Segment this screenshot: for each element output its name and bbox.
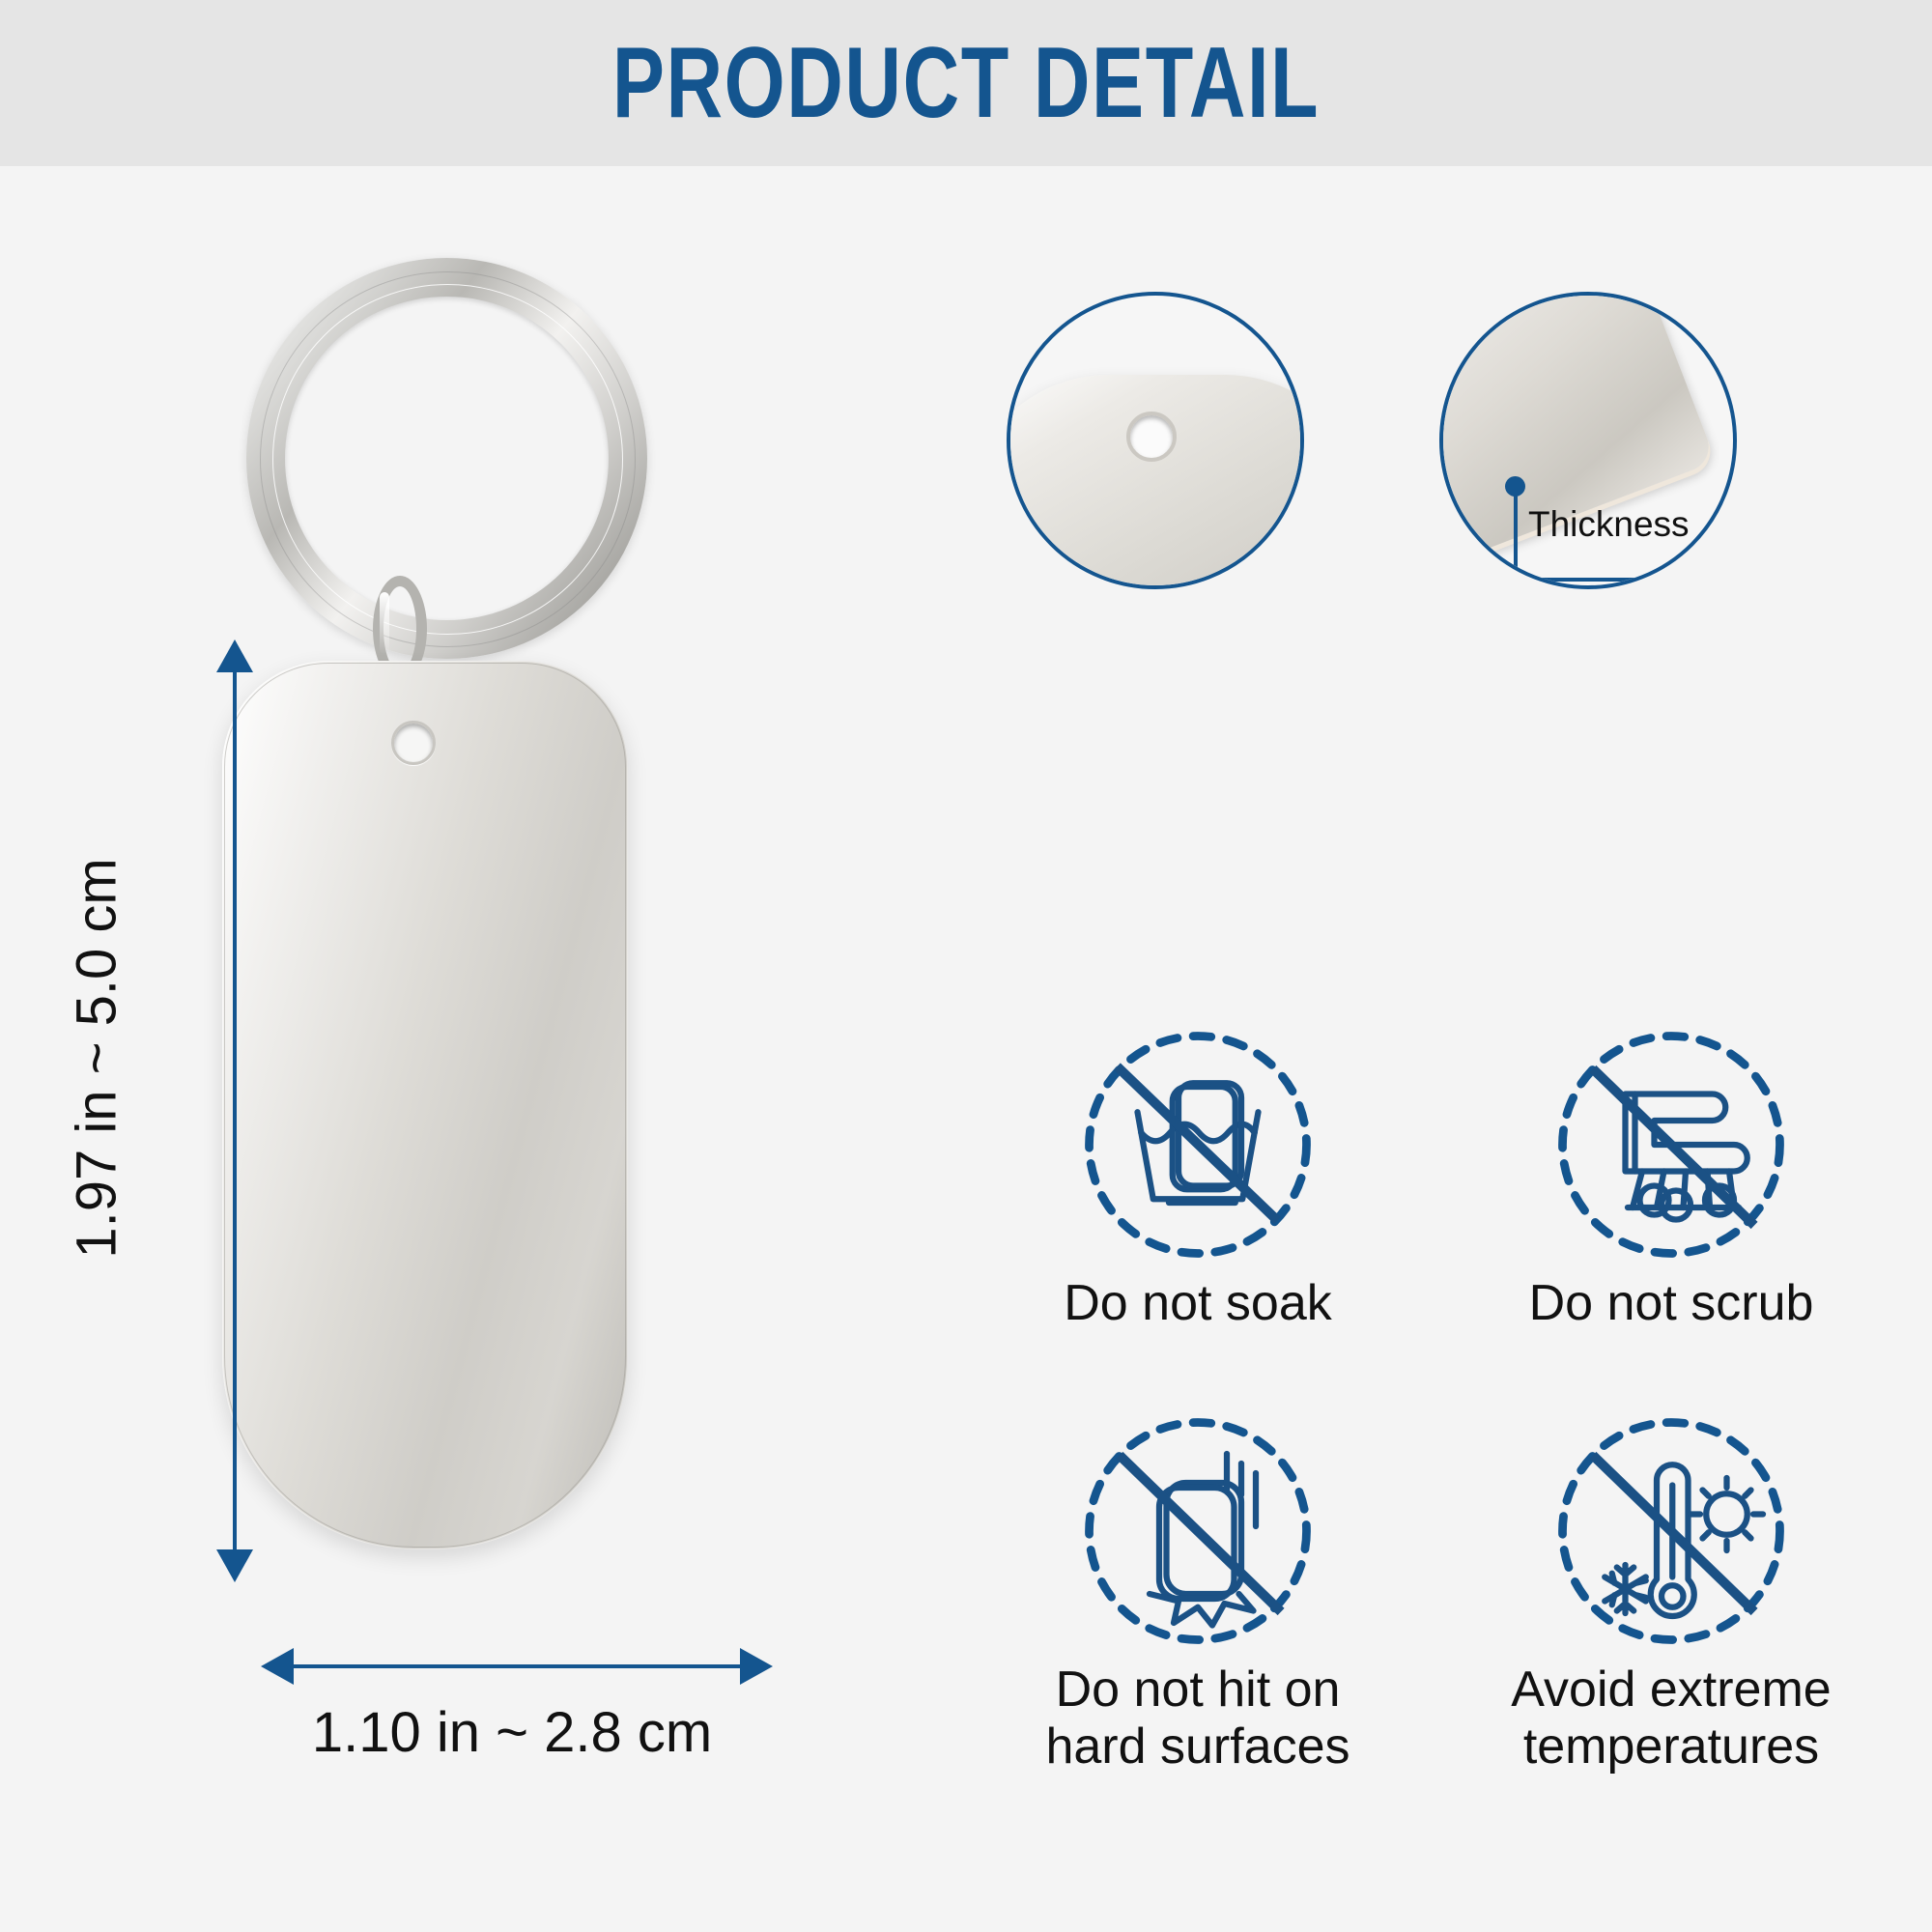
split-keyring <box>246 258 647 659</box>
hole-detail-hole <box>1126 412 1177 462</box>
width-dimension-line <box>280 1664 744 1668</box>
header-band: PRODUCT DETAIL <box>0 0 1932 166</box>
width-dimension-label: 1.10 in ~ 2.8 cm <box>145 1700 879 1765</box>
product-image-panel: 1.97 in ~ 5.0 cm 1.10 in ~ 2.8 cm <box>0 166 966 1932</box>
thickness-leader-line <box>1514 487 1518 582</box>
care-label-no-impact: Do not hit on hard surfaces <box>1005 1662 1391 1776</box>
no-temperature-icon <box>1550 1410 1792 1652</box>
no-scrub-icon <box>1550 1024 1792 1265</box>
height-dimension-label: 1.97 in ~ 5.0 cm <box>65 808 129 1310</box>
care-item-no-temperature: Avoid extreme temperatures <box>1478 1410 1864 1776</box>
thickness-value: 0.08 in ~ 0.2 cm <box>1439 585 1737 589</box>
care-label-no-temperature: Avoid extreme temperatures <box>1478 1662 1864 1776</box>
page-title: PRODUCT DETAIL <box>213 0 1719 166</box>
hole-detail-tag-crop <box>1007 375 1304 589</box>
dog-tag-body <box>222 661 628 1549</box>
care-item-no-scrub: Do not scrub <box>1478 1024 1864 1332</box>
care-item-no-impact: Do not hit on hard surfaces <box>1005 1410 1391 1776</box>
care-item-no-soak: Do not soak <box>1005 1024 1391 1332</box>
care-label-no-scrub: Do not scrub <box>1478 1275 1864 1332</box>
care-label-no-soak: Do not soak <box>1005 1275 1391 1332</box>
width-arrow-right <box>740 1648 773 1685</box>
keyring-hole <box>285 297 609 620</box>
no-impact-icon <box>1077 1410 1319 1652</box>
thickness-label: Thickness <box>1528 504 1731 545</box>
hole-detail-circle <box>1007 292 1304 589</box>
product-detail-infographic: PRODUCT DETAIL 1.97 in ~ 5.0 cm 1.10 in … <box>0 0 1932 1932</box>
tag-hole <box>391 721 436 765</box>
height-arrow-down <box>216 1549 253 1582</box>
thickness-detail-circle: Thickness 0.08 in ~ 0.2 cm <box>1439 292 1737 589</box>
thickness-underline <box>1514 578 1697 582</box>
care-instructions-grid: Do not soak Do not scrub <box>966 1024 1932 1816</box>
height-dimension-line <box>233 659 237 1552</box>
no-soak-icon <box>1077 1024 1319 1265</box>
tag-edge-highlight <box>224 663 626 1548</box>
